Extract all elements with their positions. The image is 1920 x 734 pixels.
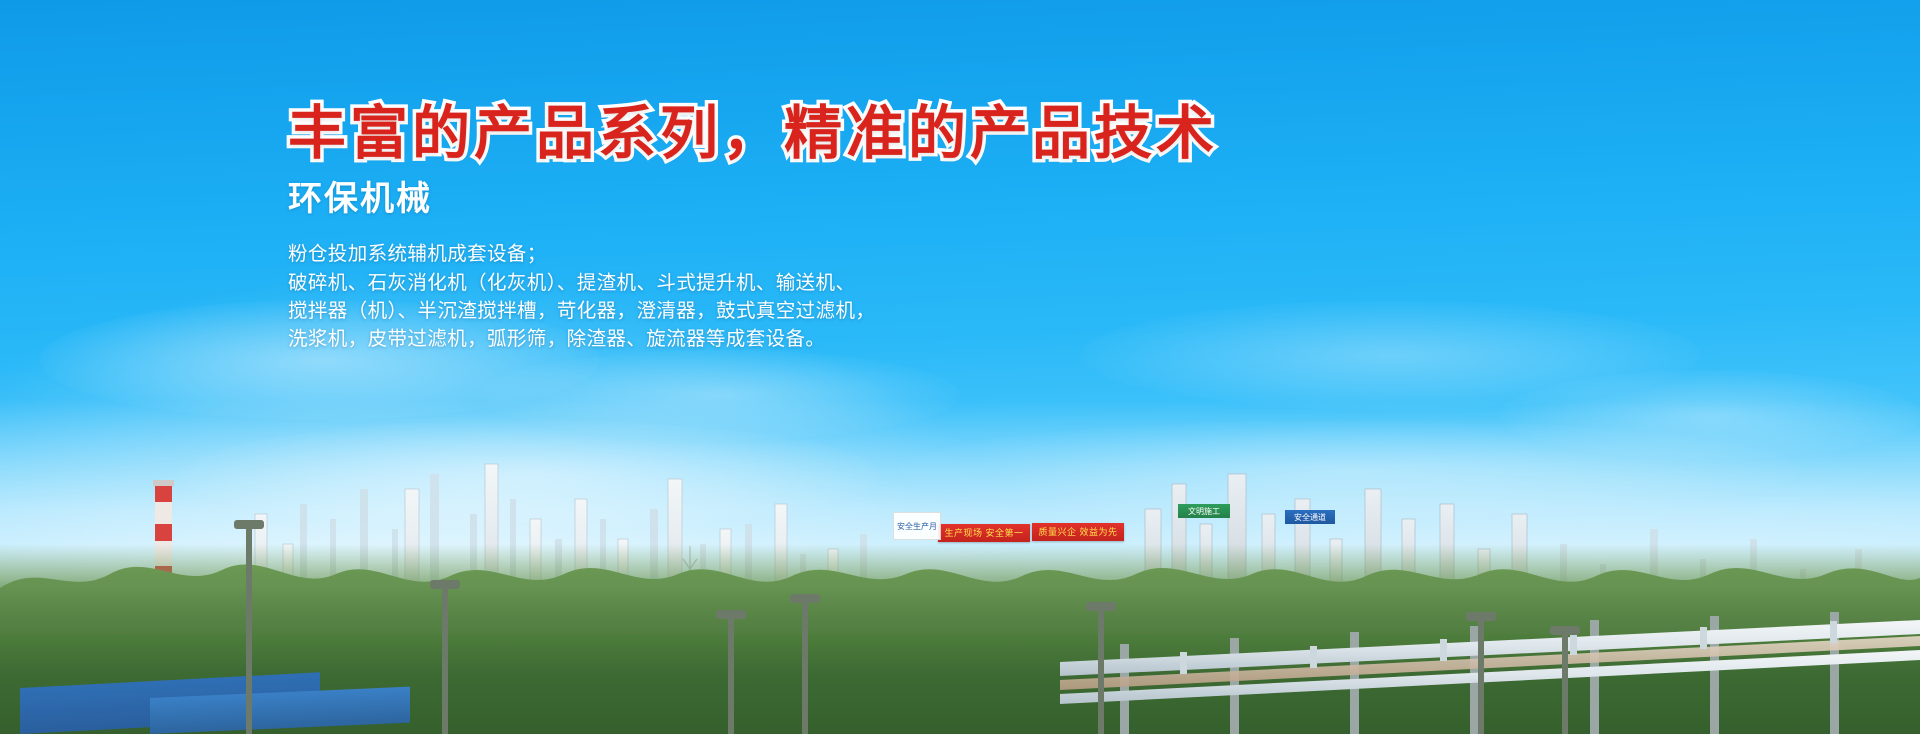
description-line: 洗浆机，皮带过滤机，弧形筛，除渣器、旋流器等成套设备。 <box>288 325 1288 353</box>
description-line: 破碎机、石灰消化机（化灰机）、提渣机、斗式提升机、输送机、 <box>288 269 1288 297</box>
street-lamp <box>728 614 734 734</box>
page-title: 丰富的产品系列，精准的产品技术 <box>288 104 1288 165</box>
description-line: 粉仓投加系统辅机成套设备； <box>288 240 1288 268</box>
description-line: 搅拌器（机）、半沉渣搅拌槽，苛化器，澄清器，鼓式真空过滤机， <box>288 297 1288 325</box>
site-sign-green: 文明施工 <box>1178 504 1230 518</box>
site-sign-white: 安全生产月 <box>893 512 941 540</box>
hero-banner: 生产现场 安全第一 质量兴企 效益为先 安全生产月 文明施工 安全通道 丰富的产… <box>0 0 1920 734</box>
street-lamp <box>802 598 808 734</box>
street-lamp <box>1478 616 1484 734</box>
pipe-rack <box>1060 534 1920 734</box>
street-lamp <box>1098 606 1104 734</box>
banner-text-block: 丰富的产品系列，精准的产品技术 环保机械 粉仓投加系统辅机成套设备； 破碎机、石… <box>288 104 1288 353</box>
banner-description: 粉仓投加系统辅机成套设备； 破碎机、石灰消化机（化灰机）、提渣机、斗式提升机、输… <box>288 240 1288 353</box>
site-banner-red: 质量兴企 效益为先 <box>1032 523 1124 541</box>
street-lamp <box>1562 630 1568 734</box>
street-lamp <box>246 524 252 734</box>
street-lamp <box>442 584 448 734</box>
site-banner-red: 生产现场 安全第一 <box>938 524 1030 542</box>
site-sign-blue: 安全通道 <box>1285 510 1335 524</box>
banner-subtitle: 环保机械 <box>288 181 1288 218</box>
